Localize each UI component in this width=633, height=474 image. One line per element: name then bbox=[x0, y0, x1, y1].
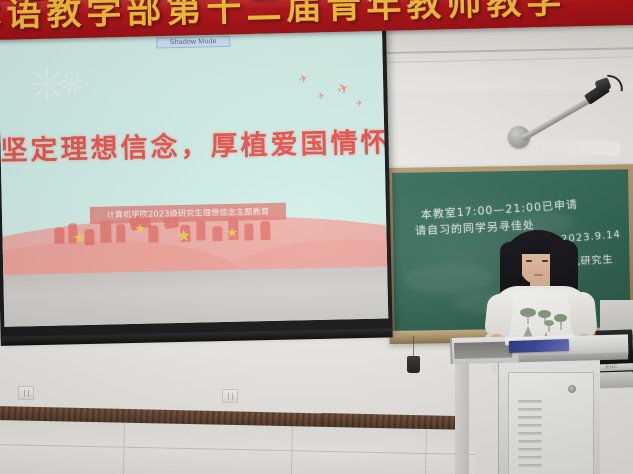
podium-lock bbox=[568, 385, 576, 393]
osd-shadow-mode-indicator: Shadow Mode bbox=[156, 36, 230, 49]
wall-outlet-right bbox=[222, 389, 238, 403]
eraser-string bbox=[413, 336, 414, 358]
star-icon-2: ★ bbox=[134, 222, 146, 235]
presentation-slide: ✈ ✈ ✈ ✈ bbox=[0, 29, 387, 277]
blackboard-eraser bbox=[407, 356, 420, 373]
dove-icon-3: ✈ bbox=[335, 80, 352, 98]
classroom-photo-scene: 本教室17:00—21:00已申请 请自习的同学另寻佳处 2023.9.14 机… bbox=[0, 0, 633, 474]
floor bbox=[0, 420, 476, 474]
eye-right bbox=[542, 260, 548, 262]
sleeve-right bbox=[568, 291, 598, 339]
screen-blank-area bbox=[3, 266, 388, 326]
podium-leg bbox=[455, 360, 469, 474]
podium-vents bbox=[518, 400, 544, 472]
dove-icon-1: ✈ bbox=[298, 73, 310, 86]
blue-folder bbox=[509, 339, 569, 353]
wall-outlet-left bbox=[18, 386, 34, 400]
dove-icon-2: ✈ bbox=[317, 91, 326, 101]
firework-burst-small-icon bbox=[59, 69, 86, 96]
star-icon-4: ★ bbox=[176, 229, 191, 245]
star-icon-1: ★ bbox=[72, 231, 87, 247]
eye-left bbox=[526, 260, 532, 262]
slide-main-title: 坚定理想信念，厚植爱国情怀 bbox=[0, 121, 385, 168]
podium-side-opening-inner bbox=[454, 341, 512, 359]
projection-screen-surface: ✈ ✈ ✈ ✈ bbox=[0, 29, 388, 327]
dove-icon-4: ✈ bbox=[355, 99, 364, 109]
sleeve-left bbox=[484, 293, 514, 339]
star-icon-5: ★ bbox=[226, 226, 238, 239]
mouth bbox=[534, 274, 543, 276]
keyboard-label: ESC bbox=[606, 364, 618, 370]
projection-screen-frame: ✈ ✈ ✈ ✈ bbox=[0, 24, 393, 338]
